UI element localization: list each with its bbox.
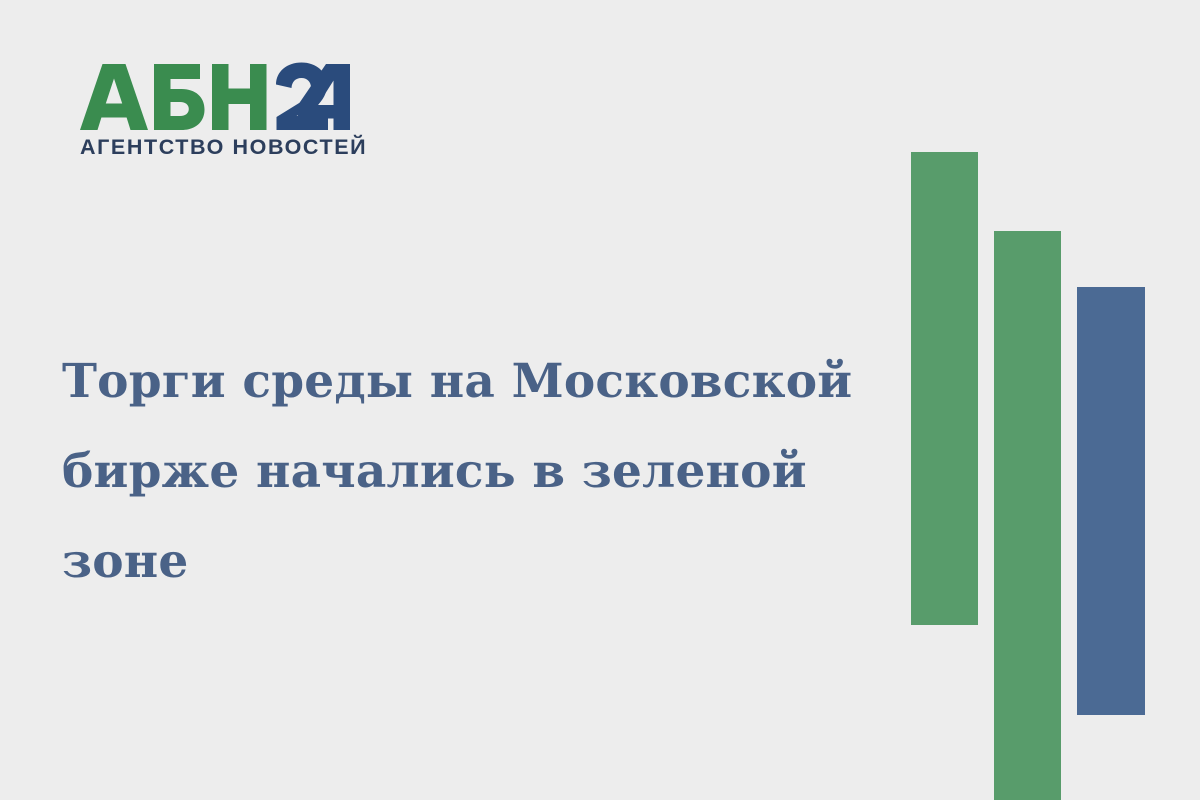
brand-logo[interactable]: АГЕНТСТВО НОВОСТЕЙ — [80, 62, 380, 160]
page-title: Торги среды на Московской бирже начались… — [62, 337, 872, 607]
chart-bar-2 — [994, 231, 1061, 800]
news-card: АГЕНТСТВО НОВОСТЕЙ Торги среды на Москов… — [0, 0, 1200, 800]
logo-wordmark-icon — [80, 62, 352, 132]
logo-tagline: АГЕНТСТВО НОВОСТЕЙ — [80, 136, 380, 160]
chart-bar-3 — [1077, 287, 1145, 715]
chart-bar-1 — [911, 152, 978, 625]
